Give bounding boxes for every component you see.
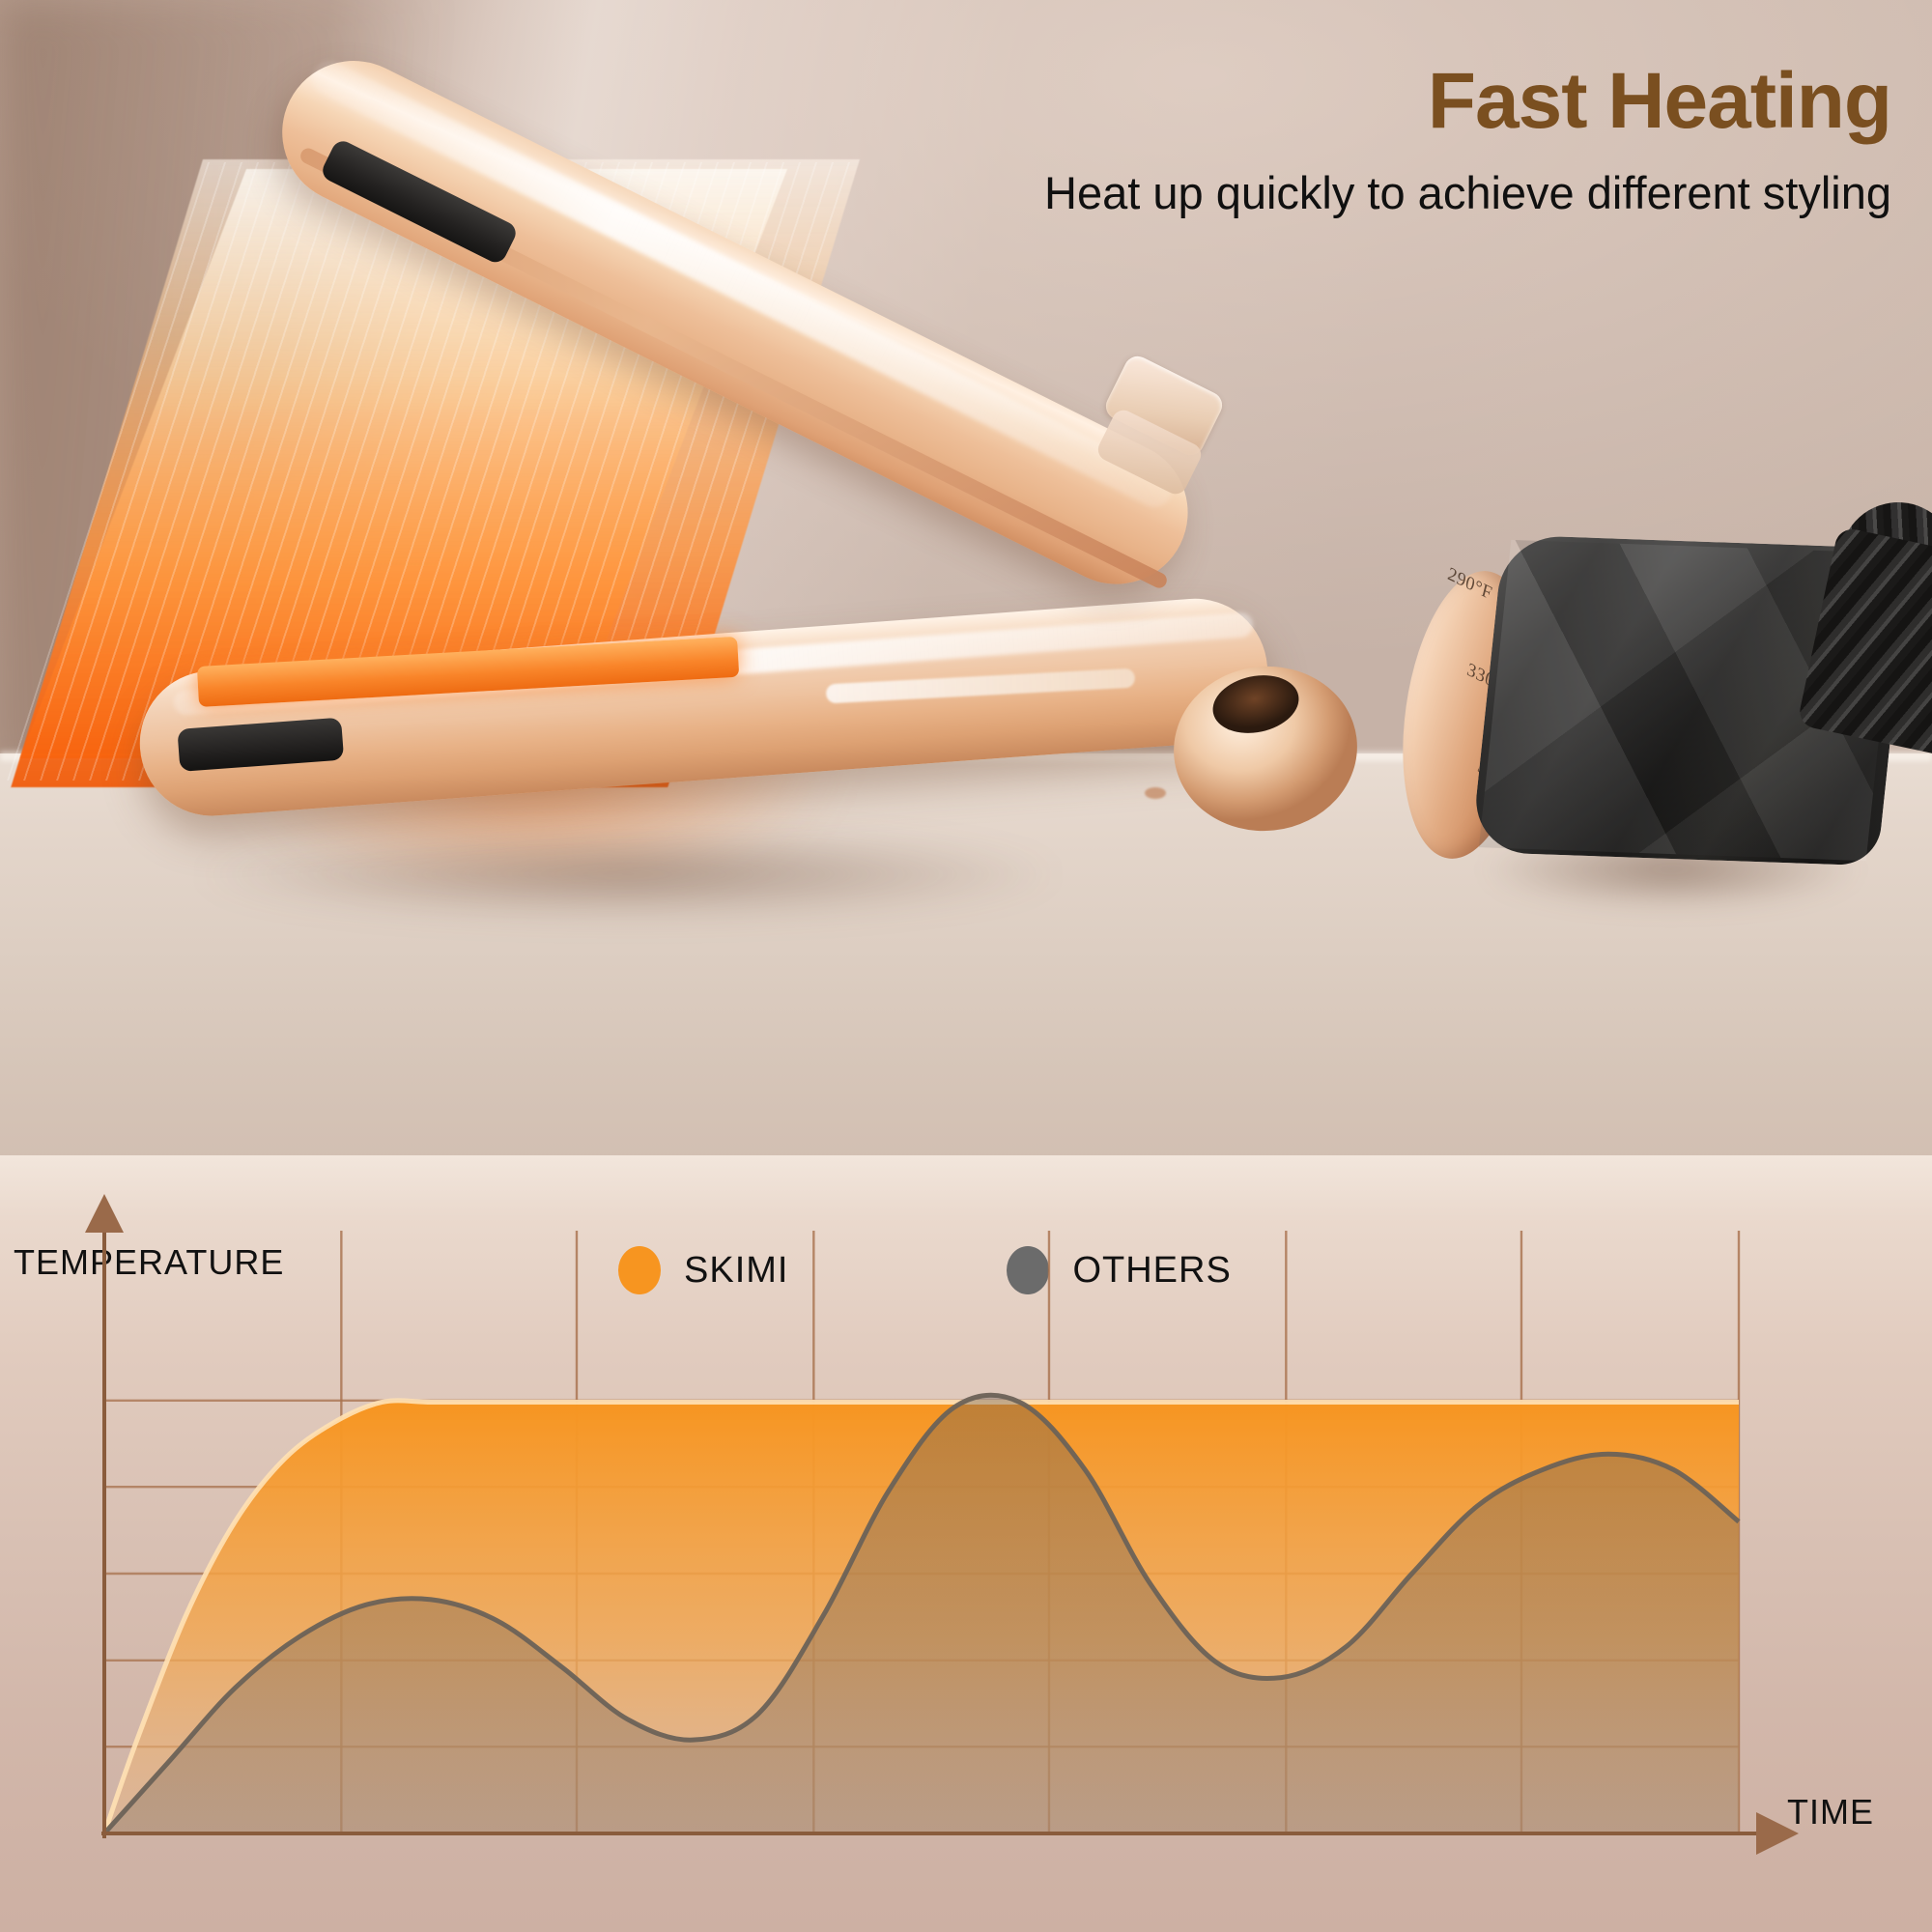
flat-iron-shadow <box>145 811 1352 937</box>
lower-arm-dot <box>1145 787 1166 799</box>
chart-svg <box>0 1155 1932 1932</box>
page-title: Fast Heating <box>925 60 1891 143</box>
headline-block: Fast Heating Heat up quickly to achieve … <box>925 60 1891 222</box>
y-axis-arrow-icon <box>85 1194 124 1233</box>
page-subtitle: Heat up quickly to achieve different sty… <box>925 164 1891 222</box>
x-axis-arrow-icon <box>1756 1812 1799 1855</box>
